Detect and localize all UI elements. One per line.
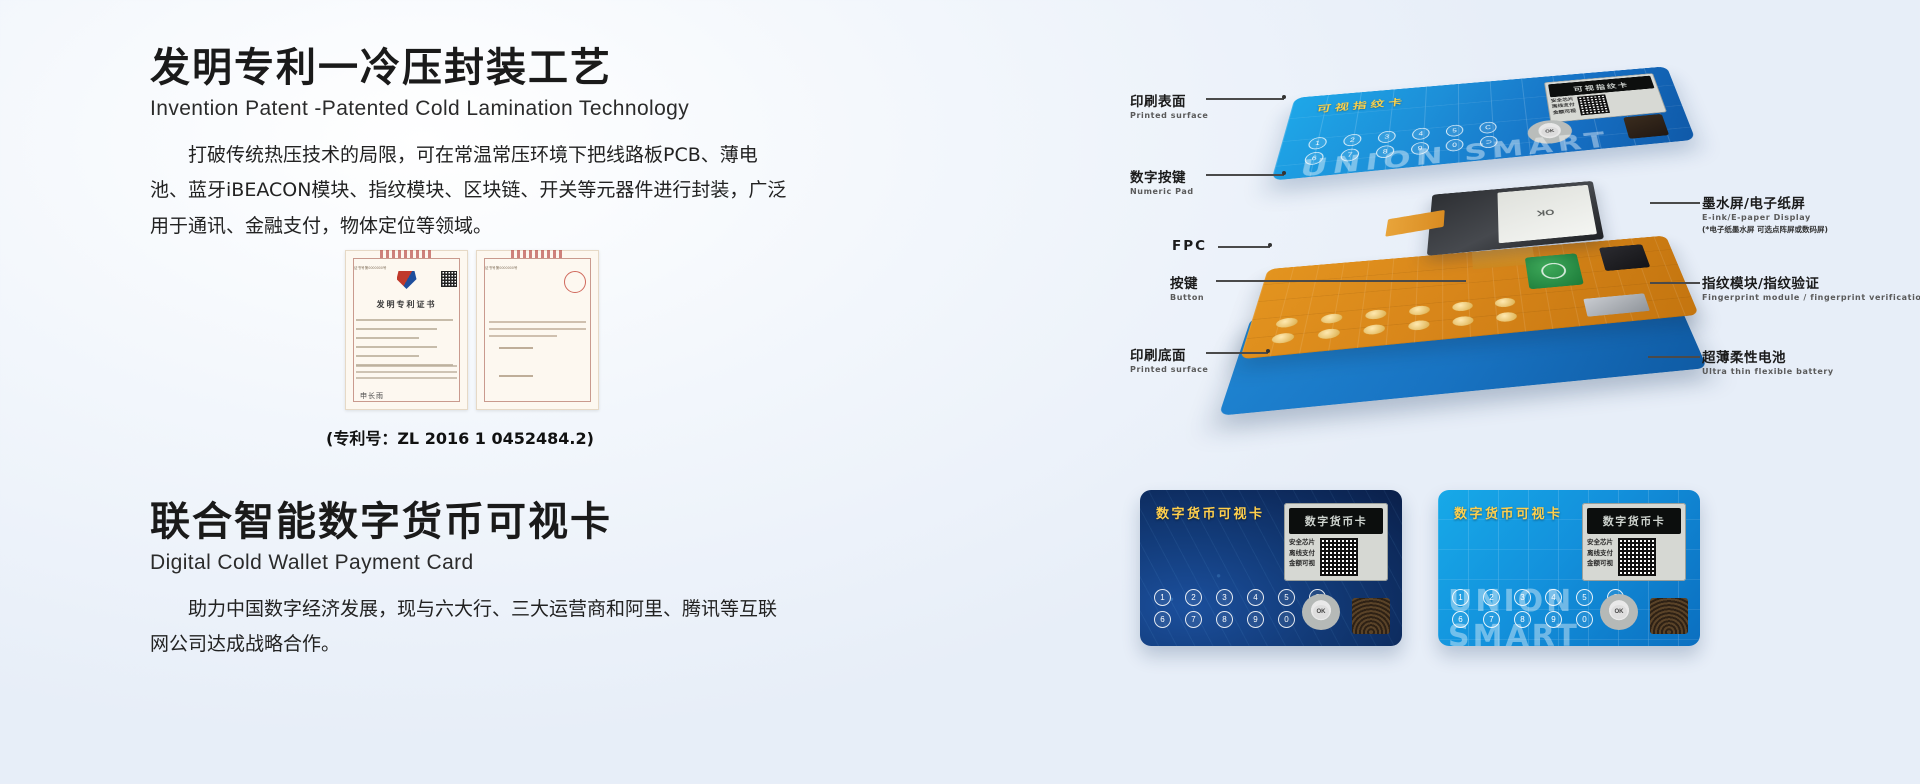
leader-line	[1206, 352, 1268, 354]
keypad-key: 3	[1216, 589, 1233, 606]
feature-text: 离线支付	[1289, 549, 1315, 560]
product-card-dark: 数字货币可视卡 数字货币卡 安全芯片 离线支付 金额可视 1 2 3 4 5	[1140, 490, 1402, 646]
keypad-key: 0	[1278, 611, 1295, 628]
label-en: Numeric Pad	[1130, 187, 1194, 196]
certificate-front: 证书号第0000000号 发明专利证书 申长雨	[345, 250, 468, 410]
keypad-key: 8	[1216, 611, 1233, 628]
pcb-module-icon	[1599, 244, 1650, 271]
label-cn: 墨水屏/电子纸屏	[1702, 192, 1828, 212]
keypad-key: 1	[1307, 136, 1328, 150]
page-root: 发明专利一冷压封装工艺 Invention Patent -Patented C…	[0, 0, 1920, 784]
product-card-screen-title: 数字货币卡	[1587, 508, 1681, 534]
label-printed-surface-bottom: 印刷底面 Printed surface	[1130, 344, 1208, 374]
section2-title-en: Digital Cold Wallet Payment Card	[150, 550, 850, 576]
label-en: Fingerprint module / fingerprint verific…	[1702, 293, 1920, 302]
certificate-body-lines	[489, 295, 586, 342]
pcb-chip-icon	[1525, 253, 1584, 289]
label-note: (*电子纸墨水屏 可选点阵屏或数码屏)	[1702, 224, 1828, 235]
leader-dot	[1266, 349, 1270, 353]
certificate-header-text: 证书号第0000000号	[354, 265, 387, 270]
certificate-header-text: 证书号第0000000号	[485, 265, 518, 270]
product-card-fingerprint-sensor-icon	[1352, 598, 1390, 634]
patent-number: (专利号：ZL 2016 1 0452484.2)	[300, 425, 620, 449]
epaper-flex-connector-icon	[1385, 210, 1444, 237]
leader-dot	[1268, 243, 1272, 247]
label-eink-display: 墨水屏/电子纸屏 E-ink/E-paper Display (*电子纸墨水屏 …	[1702, 192, 1828, 235]
feature-text: 安全芯片	[1587, 538, 1613, 549]
label-cn: 超薄柔性电池	[1702, 346, 1834, 366]
leader-line	[1648, 356, 1700, 358]
keypad-key: 5	[1446, 124, 1463, 137]
product-card-display: 数字货币卡 安全芯片 离线支付 金额可视	[1582, 503, 1686, 581]
product-card-features: 安全芯片 离线支付 金额可视	[1587, 538, 1613, 576]
label-en: Printed surface	[1130, 111, 1208, 120]
keypad-key: 4	[1412, 127, 1430, 140]
label-fingerprint-module: 指纹模块/指纹验证 Fingerprint module / fingerpri…	[1702, 272, 1920, 302]
exploded-card-diagram: OK 可视指纹卡 可视指纹卡 安全芯片 离线支付 金额可视 1 2	[1130, 50, 1920, 450]
layer-printed-top-card: 可视指纹卡 可视指纹卡 安全芯片 离线支付 金额可视 1 2 3 4 5	[1271, 66, 1695, 180]
section2-title-cn: 联合智能数字货币可视卡	[150, 498, 850, 546]
product-card-dpad: OK	[1302, 594, 1340, 630]
certificate-title: 发明专利证书	[346, 299, 467, 310]
leader-dot	[1282, 95, 1286, 99]
label-en: Ultra thin flexible battery	[1702, 367, 1834, 376]
product-card-screen-body: 安全芯片 离线支付 金额可视	[1289, 538, 1383, 576]
product-card-brand: 数字货币可视卡	[1454, 503, 1563, 522]
certificate-ornament-icon	[511, 250, 565, 258]
feature-text: 金额可视	[1552, 109, 1576, 117]
label-cn: 数字按键	[1130, 166, 1194, 186]
certificate-signature: 申长雨	[360, 391, 384, 401]
label-en: Printed surface	[1130, 365, 1208, 374]
product-card-watermark: UNION SMART	[1448, 584, 1700, 646]
label-button: 按键 Button	[1170, 272, 1204, 302]
leader-line	[1216, 280, 1466, 282]
feature-text: 离线支付	[1587, 549, 1613, 560]
product-card-qr-icon	[1618, 538, 1656, 576]
feature-text: 金额可视	[1587, 559, 1613, 570]
section-digital-wallet: 联合智能数字货币可视卡 Digital Cold Wallet Payment …	[150, 498, 850, 663]
leader-line	[1650, 282, 1700, 284]
product-card-qr-icon	[1320, 538, 1358, 576]
label-cn: FPC	[1172, 238, 1207, 254]
product-card-screen-body: 安全芯片 离线支付 金额可视	[1587, 538, 1681, 576]
product-card-features: 安全芯片 离线支付 金额可视	[1289, 538, 1315, 576]
keypad-key: C	[1479, 121, 1497, 134]
keypad-key: 6	[1154, 611, 1171, 628]
leader-dot	[1282, 171, 1286, 175]
certificate-back: 证书号第0000000号	[476, 250, 599, 410]
product-card-display: 数字货币卡 安全芯片 离线支付 金额可视	[1284, 503, 1388, 581]
certificate-sign-line-2	[499, 375, 533, 377]
product-cards-row: 数字货币可视卡 数字货币卡 安全芯片 离线支付 金额可视 1 2 3 4 5	[1140, 490, 1700, 646]
keypad-key: 2	[1185, 589, 1202, 606]
top-card-features: 安全芯片 离线支付 金额可视	[1551, 97, 1578, 118]
label-en: Button	[1170, 293, 1204, 302]
feature-text: 安全芯片	[1289, 538, 1315, 549]
leader-line	[1206, 98, 1284, 100]
epaper-screen: OK	[1497, 185, 1597, 243]
dpad-ok-label: OK	[1313, 605, 1329, 619]
product-card-brand: 数字货币可视卡	[1156, 503, 1265, 522]
label-cn: 按键	[1170, 272, 1204, 292]
label-cn: 印刷表面	[1130, 90, 1208, 110]
keypad-key: 3	[1377, 130, 1396, 143]
keypad-key: 1	[1154, 589, 1171, 606]
certificate-red-seal-icon	[564, 271, 586, 293]
leader-line	[1650, 202, 1700, 204]
leader-line	[1218, 246, 1270, 248]
label-numeric-pad: 数字按键 Numeric Pad	[1130, 166, 1194, 196]
label-printed-surface-top: 印刷表面 Printed surface	[1130, 90, 1208, 120]
section2-paragraph: 助力中国数字经济发展，现与六大行、三大运营商和阿里、腾讯等互联网公司达成战略合作…	[150, 592, 795, 662]
product-card-screen-title: 数字货币卡	[1289, 508, 1383, 534]
leader-line	[1206, 174, 1284, 176]
section1-paragraph: 打破传统热压技术的局限，可在常温常压环境下把线路板PCB、薄电池、蓝牙iBEAC…	[150, 138, 795, 243]
keypad-key: 9	[1247, 611, 1264, 628]
section-invention-patent: 发明专利一冷压封装工艺 Invention Patent -Patented C…	[150, 44, 850, 244]
certificate-sign-line-1	[499, 347, 533, 349]
keypad-key: 2	[1342, 133, 1362, 146]
certificate-footer-lines	[356, 365, 457, 383]
top-card-qr-icon	[1577, 94, 1610, 115]
certificate-qr-icon	[441, 271, 457, 287]
section1-title-en: Invention Patent -Patented Cold Laminati…	[150, 96, 850, 122]
feature-text: 金额可视	[1289, 559, 1315, 570]
patent-certificates: 证书号第0000000号 发明专利证书 申长雨 证书号第0000000号	[345, 250, 599, 410]
top-card-fingerprint-sensor-icon	[1623, 114, 1669, 139]
keypad-key: 7	[1185, 611, 1202, 628]
product-card-cyan: 数字货币可视卡 数字货币卡 安全芯片 离线支付 金额可视 1 2 3 4 5	[1438, 490, 1700, 646]
label-cn: 指纹模块/指纹验证	[1702, 272, 1920, 292]
section1-title-cn: 发明专利一冷压封装工艺	[150, 44, 850, 92]
label-en: E-ink/E-paper Display	[1702, 213, 1828, 222]
keypad-key: 4	[1247, 589, 1264, 606]
keypad-key: 5	[1278, 589, 1295, 606]
certificate-ornament-icon	[380, 250, 434, 258]
label-fpc: FPC	[1172, 238, 1207, 254]
label-flexible-battery: 超薄柔性电池 Ultra thin flexible battery	[1702, 346, 1834, 376]
label-cn: 印刷底面	[1130, 344, 1208, 364]
